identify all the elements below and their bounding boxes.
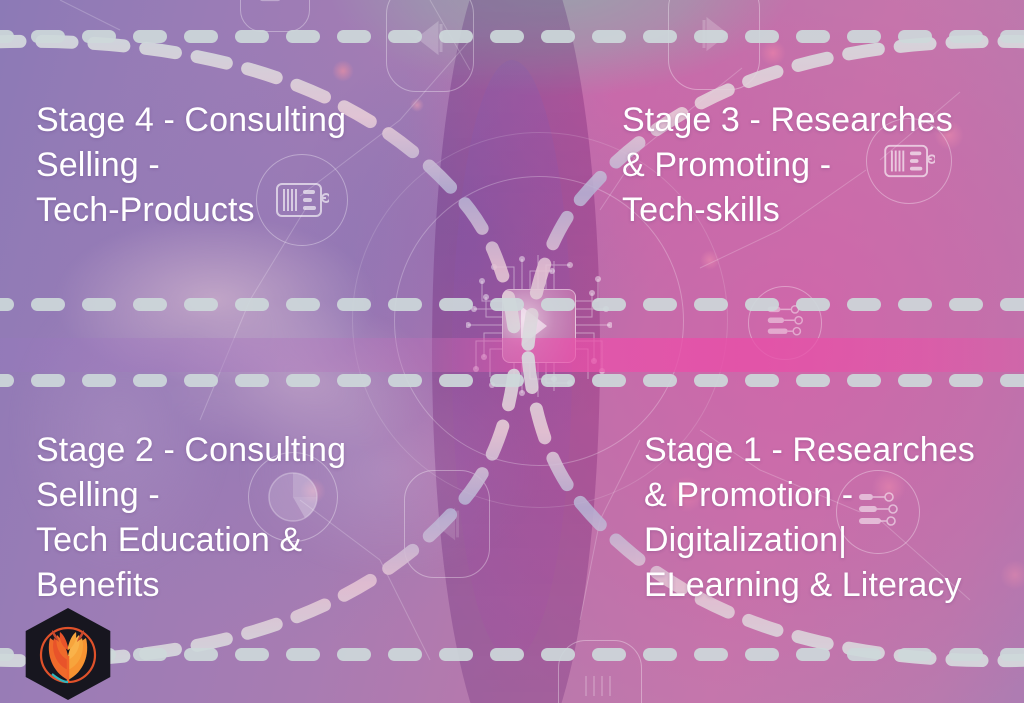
dash-segment (796, 298, 830, 311)
brand-logo (22, 608, 114, 700)
dash-segment (133, 648, 167, 661)
dash-segment (31, 298, 65, 311)
dash-segment (694, 298, 728, 311)
dash-segment (643, 374, 677, 387)
dash-segment (847, 648, 881, 661)
dash-segment (133, 30, 167, 43)
dash-segment (388, 374, 422, 387)
dash-segment (337, 648, 371, 661)
dashed-rail-bottom (0, 648, 1024, 661)
dash-segment (388, 30, 422, 43)
dash-segment (184, 374, 218, 387)
dash-segment (184, 30, 218, 43)
dash-segment (0, 298, 14, 311)
stage-4-label: Stage 4 - Consulting Selling - Tech-Prod… (36, 98, 396, 233)
dash-segment (1000, 298, 1024, 311)
dash-segment (898, 374, 932, 387)
dash-segment (286, 648, 320, 661)
dash-segment (541, 374, 575, 387)
dash-segment (745, 648, 779, 661)
dash-segment (82, 30, 116, 43)
dash-segment (439, 30, 473, 43)
dash-segment (286, 298, 320, 311)
dash-segment (31, 30, 65, 43)
dash-segment (541, 298, 575, 311)
dash-segment (1000, 30, 1024, 43)
dash-segment (541, 648, 575, 661)
dash-segment (31, 374, 65, 387)
dash-segment (847, 30, 881, 43)
dash-segment (745, 374, 779, 387)
dash-segment (133, 374, 167, 387)
dash-segment (592, 648, 626, 661)
dash-segment (0, 374, 14, 387)
dash-segment (490, 30, 524, 43)
dash-segment (490, 298, 524, 311)
dash-segment (286, 30, 320, 43)
dash-segment (643, 30, 677, 43)
dash-segment (847, 374, 881, 387)
stage-2-label: Stage 2 - Consulting Selling - Tech Educ… (36, 428, 406, 608)
dash-segment (235, 374, 269, 387)
stage-3-label: Stage 3 - Researches & Promoting - Tech-… (622, 98, 992, 233)
dash-segment (898, 648, 932, 661)
dash-segment (949, 374, 983, 387)
dash-segment (898, 298, 932, 311)
dash-segment (184, 298, 218, 311)
dashed-rail-middle-lower (0, 374, 1024, 387)
dash-segment (694, 30, 728, 43)
dash-segment (796, 374, 830, 387)
dash-segment (592, 30, 626, 43)
dash-segment (1000, 374, 1024, 387)
dash-segment (949, 30, 983, 43)
infographic-canvas: Stage 4 - Consulting Selling - Tech-Prod… (0, 0, 1024, 703)
dash-segment (0, 648, 14, 661)
dash-segment (592, 298, 626, 311)
dash-segment (898, 30, 932, 43)
dash-segment (388, 648, 422, 661)
dash-segment (949, 648, 983, 661)
dash-segment (745, 298, 779, 311)
dashed-rail-middle-upper (0, 298, 1024, 311)
dash-segment (286, 374, 320, 387)
dash-segment (439, 298, 473, 311)
dash-segment (337, 30, 371, 43)
dash-segment (490, 648, 524, 661)
dash-segment (235, 648, 269, 661)
dash-segment (133, 298, 167, 311)
dash-segment (439, 648, 473, 661)
dash-segment (949, 298, 983, 311)
dash-segment (796, 30, 830, 43)
stage-1-label: Stage 1 - Researches & Promotion - Digit… (644, 428, 1024, 608)
dash-segment (694, 648, 728, 661)
dash-segment (82, 298, 116, 311)
dash-segment (643, 648, 677, 661)
dash-segment (541, 30, 575, 43)
dash-segment (592, 374, 626, 387)
dash-segment (388, 298, 422, 311)
dash-segment (490, 374, 524, 387)
dash-segment (184, 648, 218, 661)
dash-segment (0, 30, 14, 43)
dash-segment (847, 298, 881, 311)
dash-segment (796, 648, 830, 661)
dash-segment (643, 298, 677, 311)
dash-segment (337, 374, 371, 387)
dash-segment (82, 374, 116, 387)
dash-segment (439, 374, 473, 387)
dash-segment (694, 374, 728, 387)
dash-segment (235, 298, 269, 311)
dash-segment (745, 30, 779, 43)
dash-segment (235, 30, 269, 43)
dash-segment (1000, 648, 1024, 661)
dashed-rail-top (0, 30, 1024, 43)
dash-segment (337, 298, 371, 311)
wheat-hexagon-logo-icon (22, 608, 114, 700)
